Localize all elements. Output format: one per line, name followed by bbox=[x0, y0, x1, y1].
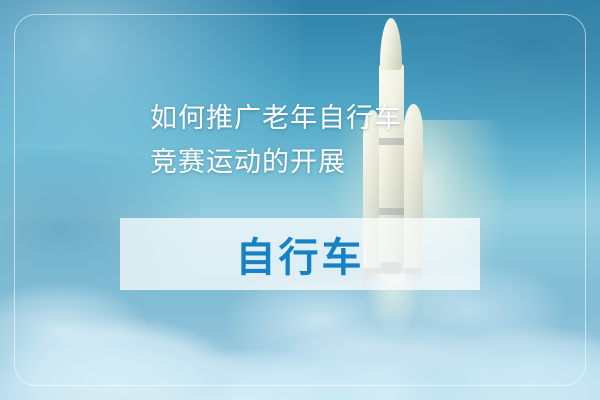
keyword-banner: 自行车 bbox=[120, 218, 480, 290]
title-line-2: 竞赛运动的开展 bbox=[150, 140, 480, 184]
image-canvas: 如何推广老年自行车 竞赛运动的开展 自行车 bbox=[0, 0, 600, 400]
title-block: 如何推广老年自行车 竞赛运动的开展 bbox=[150, 96, 480, 184]
keyword-text: 自行车 bbox=[236, 225, 365, 283]
rocket-nose-cone bbox=[380, 18, 402, 70]
smoke-clouds-lower bbox=[0, 290, 600, 400]
title-line-1: 如何推广老年自行车 bbox=[150, 96, 480, 140]
